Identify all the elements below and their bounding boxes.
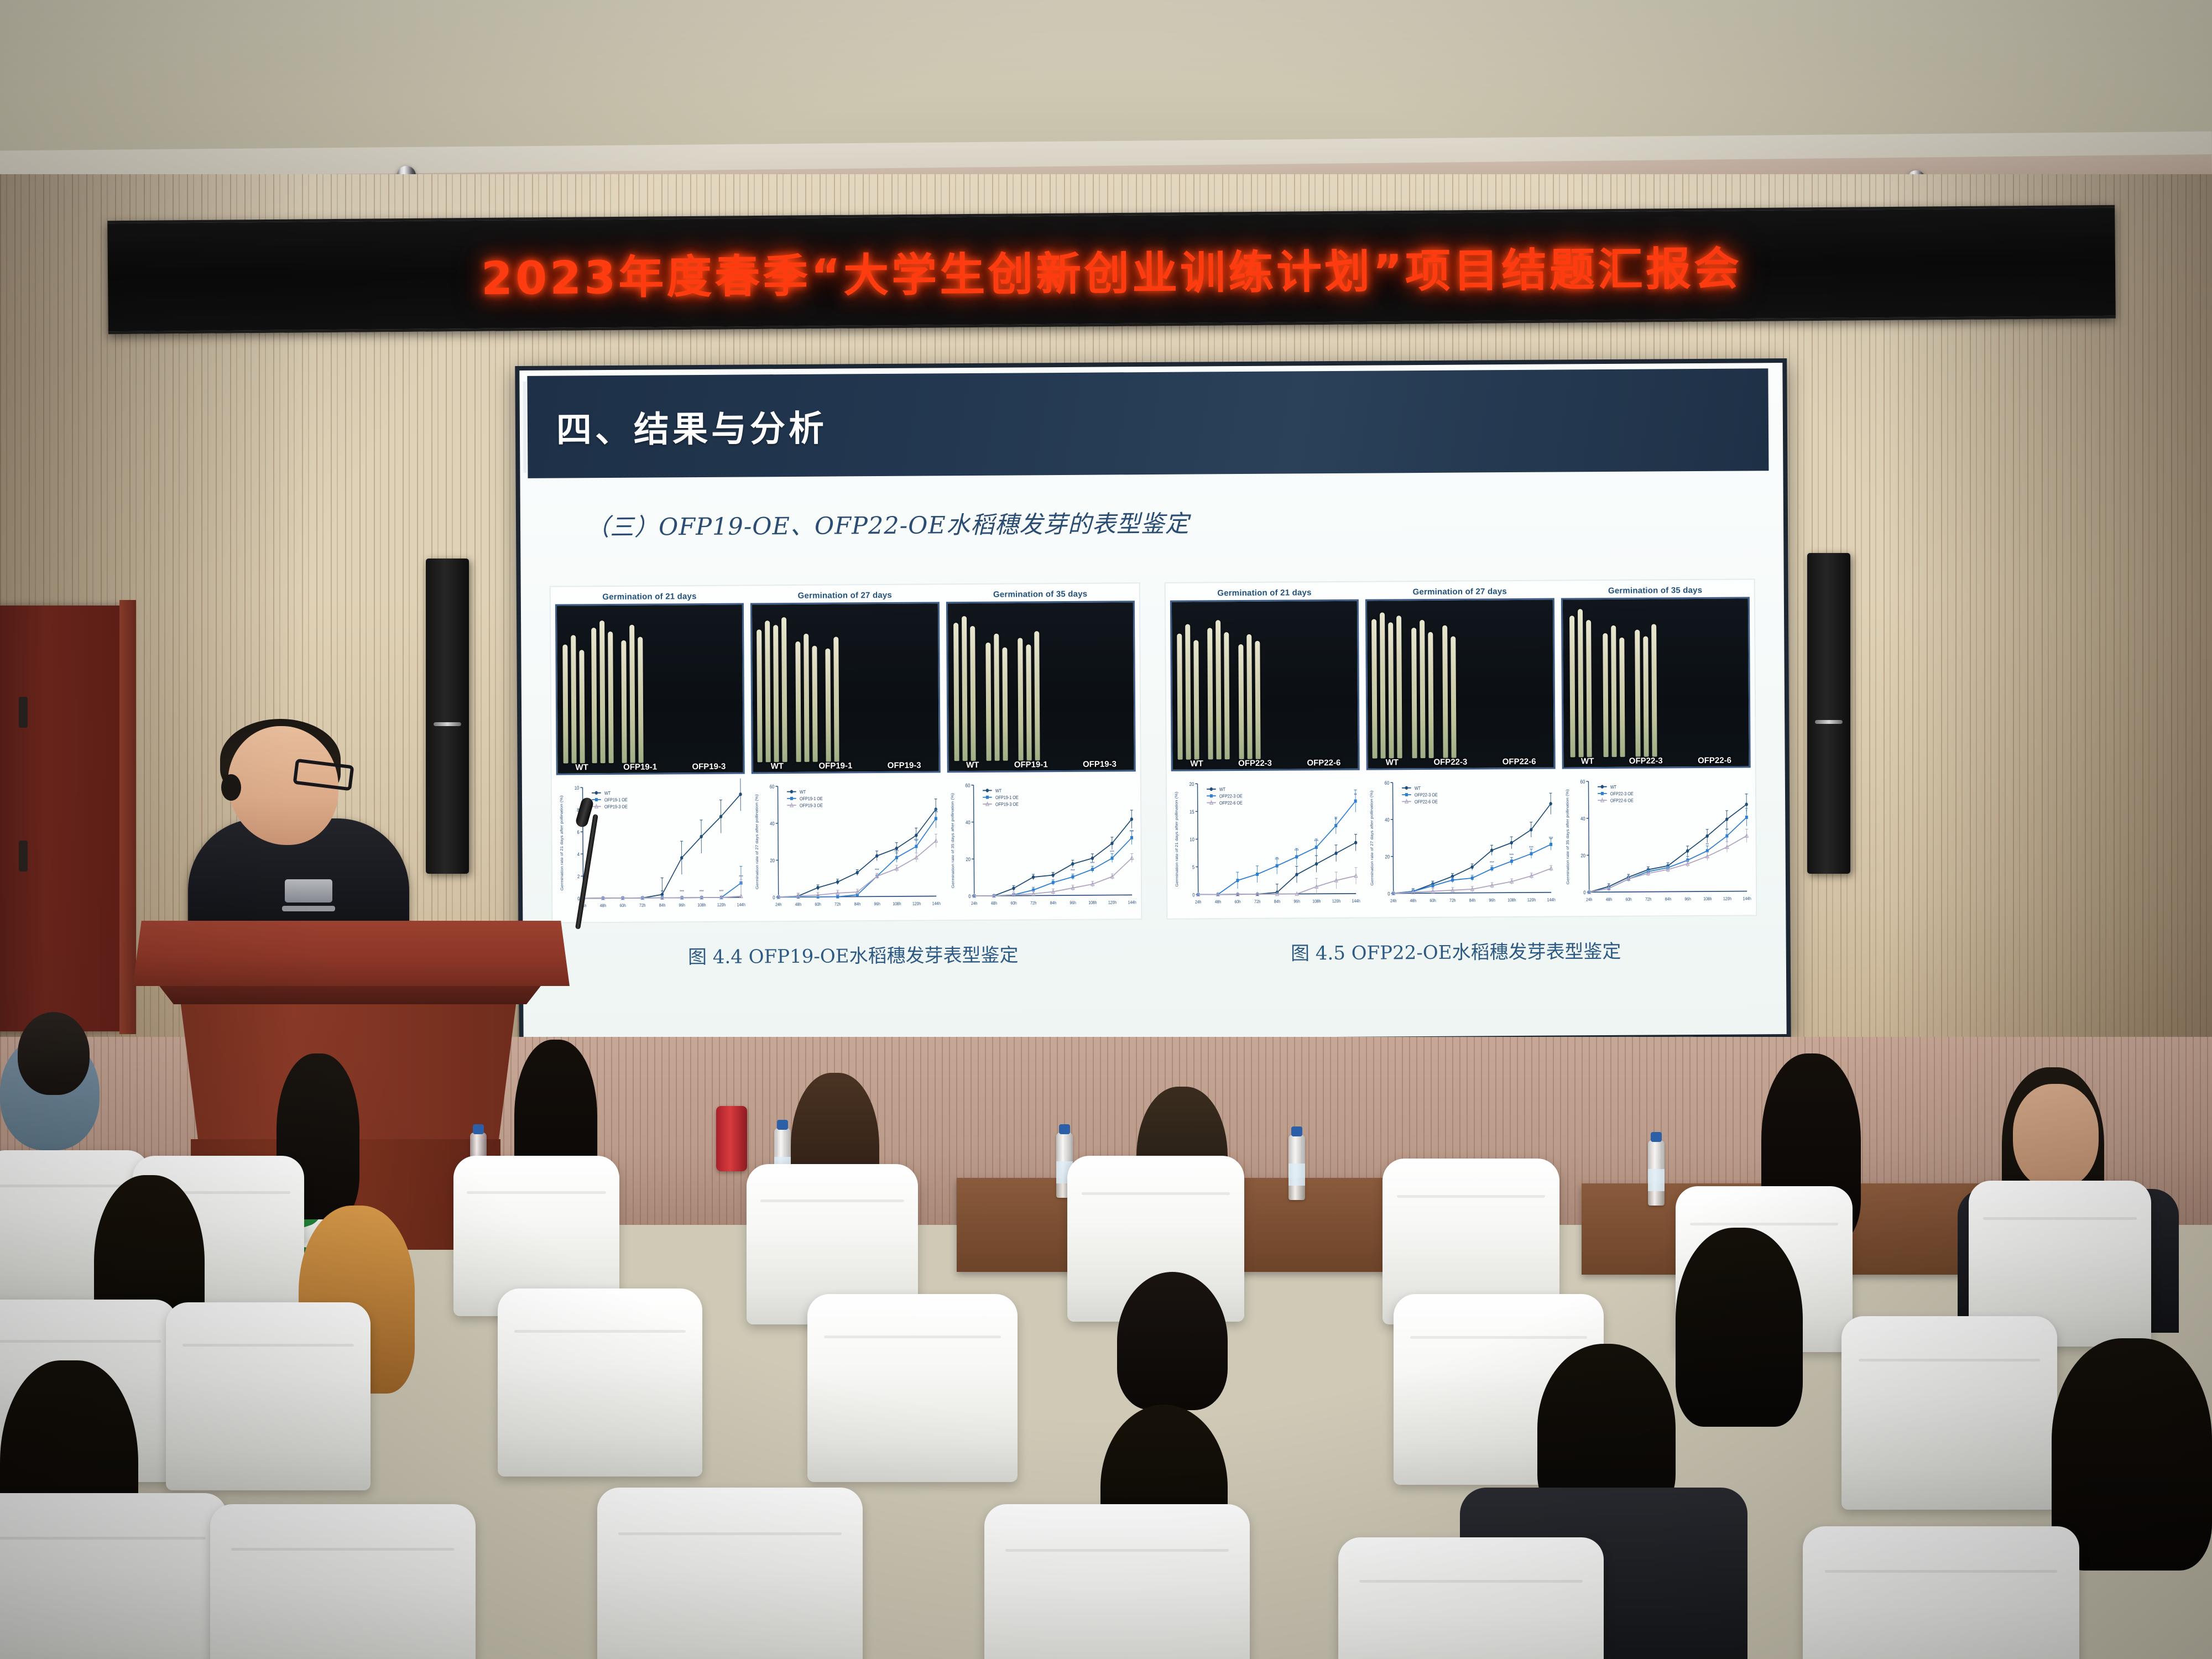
svg-text:OFP22-6 OE: OFP22-6 OE: [1415, 799, 1438, 805]
genotype-label: OFP19-3: [1083, 759, 1117, 769]
genotype-label: OFP22-6: [1503, 757, 1536, 766]
svg-text:OFP19-3 OE: OFP19-3 OE: [604, 804, 628, 810]
audience-member: [2052, 1338, 2212, 1571]
svg-text:96h: 96h: [679, 902, 685, 908]
chair[interactable]: [166, 1302, 371, 1490]
svg-text:***: ***: [1529, 845, 1533, 851]
svg-text:2: 2: [577, 873, 580, 879]
audience-member: [1117, 1272, 1228, 1410]
line-chart: 020406024h48h60h72h84h96h108h120h144hGer…: [752, 777, 941, 917]
spike-photo: WT OFP19-1 OFP19-3: [750, 602, 940, 774]
svg-text:120h: 120h: [1108, 900, 1117, 905]
svg-text:108h: 108h: [1088, 900, 1097, 905]
svg-text:WT: WT: [1415, 785, 1421, 791]
svg-text:OFP19-3 OE: OFP19-3 OE: [995, 802, 1019, 807]
svg-text:***: ***: [680, 889, 684, 894]
genotype-label: OFP22-3: [1238, 759, 1272, 768]
shirt-graphic: [285, 879, 332, 902]
side-door[interactable]: [0, 606, 129, 1031]
svg-text:***: ***: [1129, 829, 1134, 834]
svg-text:108h: 108h: [697, 902, 706, 907]
svg-text:48h: 48h: [1410, 898, 1416, 904]
door-hinge-icon: [19, 697, 28, 728]
svg-text:*: *: [1746, 808, 1747, 814]
svg-text:120h: 120h: [1527, 897, 1536, 902]
svg-text:WT: WT: [1219, 787, 1225, 792]
conference-room-photo: 2023年度春季“大学生创新创业训练计划”项目结题汇报会 四、结果与分析 （三）…: [0, 0, 2212, 1659]
shirt-graphic-bar: [282, 906, 335, 911]
svg-text:20: 20: [966, 856, 971, 862]
chair[interactable]: [1338, 1537, 1604, 1659]
chair[interactable]: [210, 1504, 476, 1659]
chair[interactable]: [1803, 1526, 2079, 1659]
genotype-label: OFP22-6: [1698, 756, 1731, 765]
svg-text:10: 10: [1190, 837, 1194, 843]
svg-text:WT: WT: [1610, 784, 1616, 790]
chair[interactable]: [807, 1294, 1018, 1482]
svg-text:40: 40: [1385, 817, 1390, 823]
svg-text:OFP22-6 OE: OFP22-6 OE: [1219, 800, 1243, 806]
door-frame: [119, 600, 136, 1034]
svg-text:48h: 48h: [990, 900, 997, 906]
svg-text:WT: WT: [604, 790, 611, 796]
svg-text:***: ***: [1295, 848, 1299, 853]
slide-subtitle: （三）OFP19-OE、OFP22-OE水稻穗发芽的表型鉴定: [586, 505, 1190, 543]
spike-photo: WT OFP22-3 OFP22-6: [1170, 599, 1360, 771]
line-chart: 0510152024h48h60h72h84h96h108h120h144hGe…: [1171, 775, 1361, 915]
door-hinge-icon: [19, 841, 28, 872]
svg-text:84h: 84h: [1665, 896, 1671, 902]
figure-caption: 图 4.5 OFP22-OE水稻穗发芽表型鉴定: [1155, 935, 1757, 966]
svg-text:84h: 84h: [1274, 899, 1280, 904]
photo-cell: Germination of 21 days: [555, 592, 745, 775]
genotype-label: OFP22-6: [1307, 758, 1340, 768]
spike-photo: WT OFP22-3 OFP22-6: [1561, 597, 1751, 769]
svg-text:10: 10: [575, 785, 580, 791]
svg-text:***: ***: [1510, 852, 1514, 858]
panel-title: Germination of 35 days: [946, 589, 1134, 599]
genotype-label: OFP22-3: [1629, 756, 1663, 765]
svg-text:108h: 108h: [1508, 898, 1516, 903]
slide-surface: 四、结果与分析 （三）OFP19-OE、OFP22-OE水稻穗发芽的表型鉴定 G…: [519, 363, 1786, 1042]
genotype-label: WT: [1190, 759, 1203, 768]
svg-text:WT: WT: [995, 788, 1001, 794]
panel-title: Germination of 27 days: [750, 590, 939, 601]
svg-text:144h: 144h: [1743, 896, 1751, 901]
line-chart: 020406024h48h60h72h84h96h108h120h144hGer…: [1562, 772, 1751, 912]
svg-text:Germination rate of 35 days af: Germination rate of 35 days after pollin…: [1565, 789, 1570, 885]
svg-text:**: **: [1354, 792, 1357, 797]
podium-top: [133, 921, 570, 986]
svg-text:120h: 120h: [1723, 896, 1731, 901]
chart-row-ofp22: 0510152024h48h60h72h84h96h108h120h144hGe…: [1171, 772, 1752, 915]
svg-text:120h: 120h: [1332, 898, 1340, 904]
svg-text:60h: 60h: [619, 902, 625, 908]
svg-text:OFP19-3 OE: OFP19-3 OE: [800, 803, 823, 808]
svg-text:24h: 24h: [775, 902, 781, 907]
line-chart: 020406024h48h60h72h84h96h108h120h144hGer…: [1366, 774, 1556, 914]
svg-text:84h: 84h: [1050, 900, 1056, 906]
photo-cell: Germination of 27 days: [750, 590, 940, 774]
photo-cell: Germination of 21 days: [1170, 588, 1360, 771]
svg-text:20: 20: [1385, 854, 1390, 860]
svg-text:0: 0: [1583, 889, 1586, 895]
svg-text:0: 0: [773, 894, 775, 900]
svg-text:***: ***: [1090, 860, 1094, 866]
spike-photo: WT OFP19-1 OFP19-3: [946, 601, 1136, 773]
figure-ofp19: Germination of 21 days: [550, 582, 1142, 924]
svg-text:72h: 72h: [834, 901, 841, 907]
svg-text:***: ***: [1071, 868, 1075, 873]
led-banner: 2023年度春季“大学生创新创业训练计划”项目结题汇报会: [107, 205, 2115, 335]
photo-row-ofp19: Germination of 21 days: [555, 589, 1136, 775]
svg-text:OFP22-3 OE: OFP22-3 OE: [1219, 794, 1243, 799]
svg-text:OFP22-3 OE: OFP22-3 OE: [1415, 792, 1438, 798]
svg-text:***: ***: [934, 810, 938, 815]
svg-text:24h: 24h: [1390, 898, 1396, 904]
svg-text:***: ***: [914, 837, 919, 843]
svg-text:***: ***: [875, 867, 879, 873]
svg-text:24h: 24h: [971, 900, 977, 906]
audience-face: [2013, 1084, 2099, 1189]
svg-text:60: 60: [770, 784, 775, 790]
svg-text:Germination rate of 21 days af: Germination rate of 21 days after pollin…: [1174, 791, 1179, 887]
svg-text:40: 40: [770, 821, 775, 827]
svg-text:6: 6: [577, 829, 580, 835]
svg-text:5: 5: [1192, 864, 1195, 870]
chair[interactable]: [0, 1493, 227, 1659]
svg-text:120h: 120h: [717, 902, 726, 907]
svg-text:Germination rate of 27 days af: Germination rate of 27 days after pollin…: [754, 794, 759, 890]
svg-text:108h: 108h: [1312, 899, 1321, 904]
svg-text:60: 60: [965, 782, 970, 789]
svg-text:WT: WT: [800, 789, 806, 795]
photo-cell: Germination of 35 days: [946, 589, 1135, 773]
column-speaker-right: [1807, 553, 1850, 874]
column-speaker-left: [426, 559, 469, 874]
svg-text:***: ***: [700, 889, 704, 894]
svg-text:***: ***: [1314, 838, 1318, 844]
slide-section-title: 四、结果与分析: [556, 400, 828, 452]
svg-text:***: ***: [1490, 860, 1494, 865]
svg-text:40: 40: [1580, 816, 1585, 822]
photo-cell: Germination of 35 days: [1561, 585, 1750, 769]
svg-text:***: ***: [719, 889, 724, 894]
panel-title: Germination of 21 days: [555, 592, 744, 602]
svg-text:96h: 96h: [1489, 898, 1495, 903]
red-cup: [716, 1106, 747, 1171]
svg-text:72h: 72h: [1030, 900, 1036, 906]
svg-text:144h: 144h: [1352, 898, 1360, 904]
panel-title: Germination of 35 days: [1561, 585, 1749, 596]
line-chart: 020406024h48h60h72h84h96h108h120h144hGer…: [947, 776, 1136, 916]
svg-text:**: **: [1334, 817, 1337, 822]
svg-text:72h: 72h: [1449, 898, 1455, 903]
svg-text:72h: 72h: [1254, 899, 1260, 904]
svg-text:144h: 144h: [932, 901, 941, 906]
svg-text:OFP22-6 OE: OFP22-6 OE: [1610, 798, 1634, 804]
genotype-label: WT: [1581, 757, 1594, 766]
chair[interactable]: [984, 1504, 1250, 1659]
svg-text:60h: 60h: [1234, 899, 1240, 905]
svg-text:48h: 48h: [600, 903, 606, 909]
spike-photo: WT OFP22-3 OFP22-6: [1365, 598, 1555, 770]
genotype-label: OFP19-3: [692, 762, 726, 771]
svg-text:48h: 48h: [795, 901, 801, 907]
svg-text:24h: 24h: [1195, 899, 1201, 905]
audience-hair: [18, 1012, 90, 1095]
svg-text:144h: 144h: [1547, 897, 1556, 902]
svg-text:0: 0: [968, 893, 971, 899]
presenter-ear: [221, 774, 241, 801]
genotype-label: WT: [966, 760, 979, 770]
svg-text:20: 20: [1580, 853, 1585, 859]
svg-text:60: 60: [1580, 779, 1585, 785]
genotype-label: OFP19-1: [818, 761, 852, 770]
svg-text:48h: 48h: [1215, 899, 1221, 905]
svg-text:Germination rate of 21 days af: Germination rate of 21 days after pollin…: [559, 795, 564, 891]
svg-text:72h: 72h: [639, 902, 645, 908]
svg-text:108h: 108h: [1703, 896, 1712, 901]
genotype-label: WT: [771, 761, 784, 771]
svg-text:144h: 144h: [1128, 900, 1136, 905]
svg-text:60: 60: [1385, 780, 1390, 786]
svg-text:60h: 60h: [1010, 900, 1016, 906]
svg-text:40: 40: [966, 820, 971, 826]
svg-text:Germination rate of 35 days af: Germination rate of 35 days after pollin…: [950, 793, 955, 889]
genotype-label: OFP19-3: [888, 761, 921, 770]
svg-text:120h: 120h: [912, 901, 921, 906]
figures-container: Germination of 21 days: [550, 578, 1757, 923]
svg-text:84h: 84h: [659, 902, 665, 908]
svg-text:96h: 96h: [1070, 900, 1076, 905]
svg-text:48h: 48h: [1605, 896, 1611, 902]
genotype-label: OFP22-3: [1433, 758, 1467, 767]
svg-text:20: 20: [770, 858, 775, 864]
photo-row-ofp22: Germination of 21 days: [1170, 585, 1751, 771]
svg-text:4: 4: [577, 851, 580, 857]
svg-text:72h: 72h: [1645, 896, 1651, 902]
panel-title: Germination of 27 days: [1365, 587, 1554, 597]
svg-text:0: 0: [1387, 891, 1390, 897]
svg-text:108h: 108h: [893, 901, 901, 906]
svg-text:60h: 60h: [1430, 898, 1436, 903]
genotype-label: WT: [1386, 758, 1399, 767]
svg-text:96h: 96h: [1684, 896, 1691, 902]
svg-text:**: **: [661, 889, 664, 894]
svg-text:OFP19-1 OE: OFP19-1 OE: [800, 796, 823, 801]
svg-text:OFP19-1 OE: OFP19-1 OE: [995, 795, 1019, 800]
svg-text:60h: 60h: [815, 901, 821, 907]
chair[interactable]: [597, 1488, 863, 1659]
chair[interactable]: [498, 1288, 702, 1477]
figure-captions: 图 4.4 OFP19-OE水稻穗发芽表型鉴定 图 4.5 OFP22-OE水稻…: [552, 935, 1757, 969]
svg-text:0: 0: [1192, 892, 1195, 898]
audience-member: [1676, 1228, 1803, 1427]
slide-header-bar: 四、结果与分析: [527, 368, 1768, 478]
svg-text:**: **: [1705, 842, 1708, 847]
svg-text:60h: 60h: [1625, 896, 1631, 902]
spike-photo: WT OFP19-1 OFP19-3: [555, 603, 745, 775]
svg-text:***: ***: [1549, 836, 1553, 841]
figure-ofp22: Germination of 21 days: [1165, 578, 1757, 920]
svg-text:OFP19-1 OE: OFP19-1 OE: [604, 797, 628, 803]
svg-text:***: ***: [1275, 857, 1279, 862]
display-screen[interactable]: 四、结果与分析 （三）OFP19-OE、OFP22-OE水稻穗发芽的表型鉴定 G…: [515, 358, 1791, 1046]
chart-row-ofp19: 024681024h48h60h72h84h96h108h120h144hGer…: [556, 776, 1137, 919]
svg-text:**: **: [1725, 827, 1728, 832]
svg-text:96h: 96h: [1293, 899, 1300, 904]
podium-lip: [145, 983, 555, 1004]
svg-text:84h: 84h: [1469, 898, 1475, 903]
genotype-label: WT: [575, 763, 588, 772]
svg-text:***: ***: [1110, 849, 1114, 855]
genotype-label: OFP19-1: [1014, 760, 1048, 769]
panel-title: Germination of 21 days: [1170, 588, 1359, 598]
svg-text:Germination rate of 27 days af: Germination rate of 27 days after pollin…: [1369, 790, 1374, 886]
led-banner-text: 2023年度春季“大学生创新创业训练计划”项目结题汇报会: [107, 208, 2115, 332]
svg-text:20: 20: [1190, 781, 1194, 787]
svg-text:144h: 144h: [737, 902, 745, 907]
figure-caption: 图 4.4 OFP19-OE水稻穗发芽表型鉴定: [552, 939, 1155, 970]
svg-text:24h: 24h: [1586, 897, 1592, 902]
water-bottle: [1288, 1135, 1305, 1200]
water-bottle: [1648, 1140, 1665, 1206]
photo-cell: Germination of 27 days: [1365, 587, 1555, 770]
svg-text:15: 15: [1190, 808, 1194, 815]
svg-text:***: ***: [895, 849, 899, 854]
chair[interactable]: [1841, 1316, 2057, 1510]
genotype-label: OFP19-1: [623, 762, 657, 771]
svg-text:96h: 96h: [874, 901, 880, 907]
svg-text:84h: 84h: [854, 901, 860, 907]
svg-text:OFP22-3 OE: OFP22-3 OE: [1610, 791, 1634, 796]
svg-text:***: ***: [739, 874, 743, 879]
